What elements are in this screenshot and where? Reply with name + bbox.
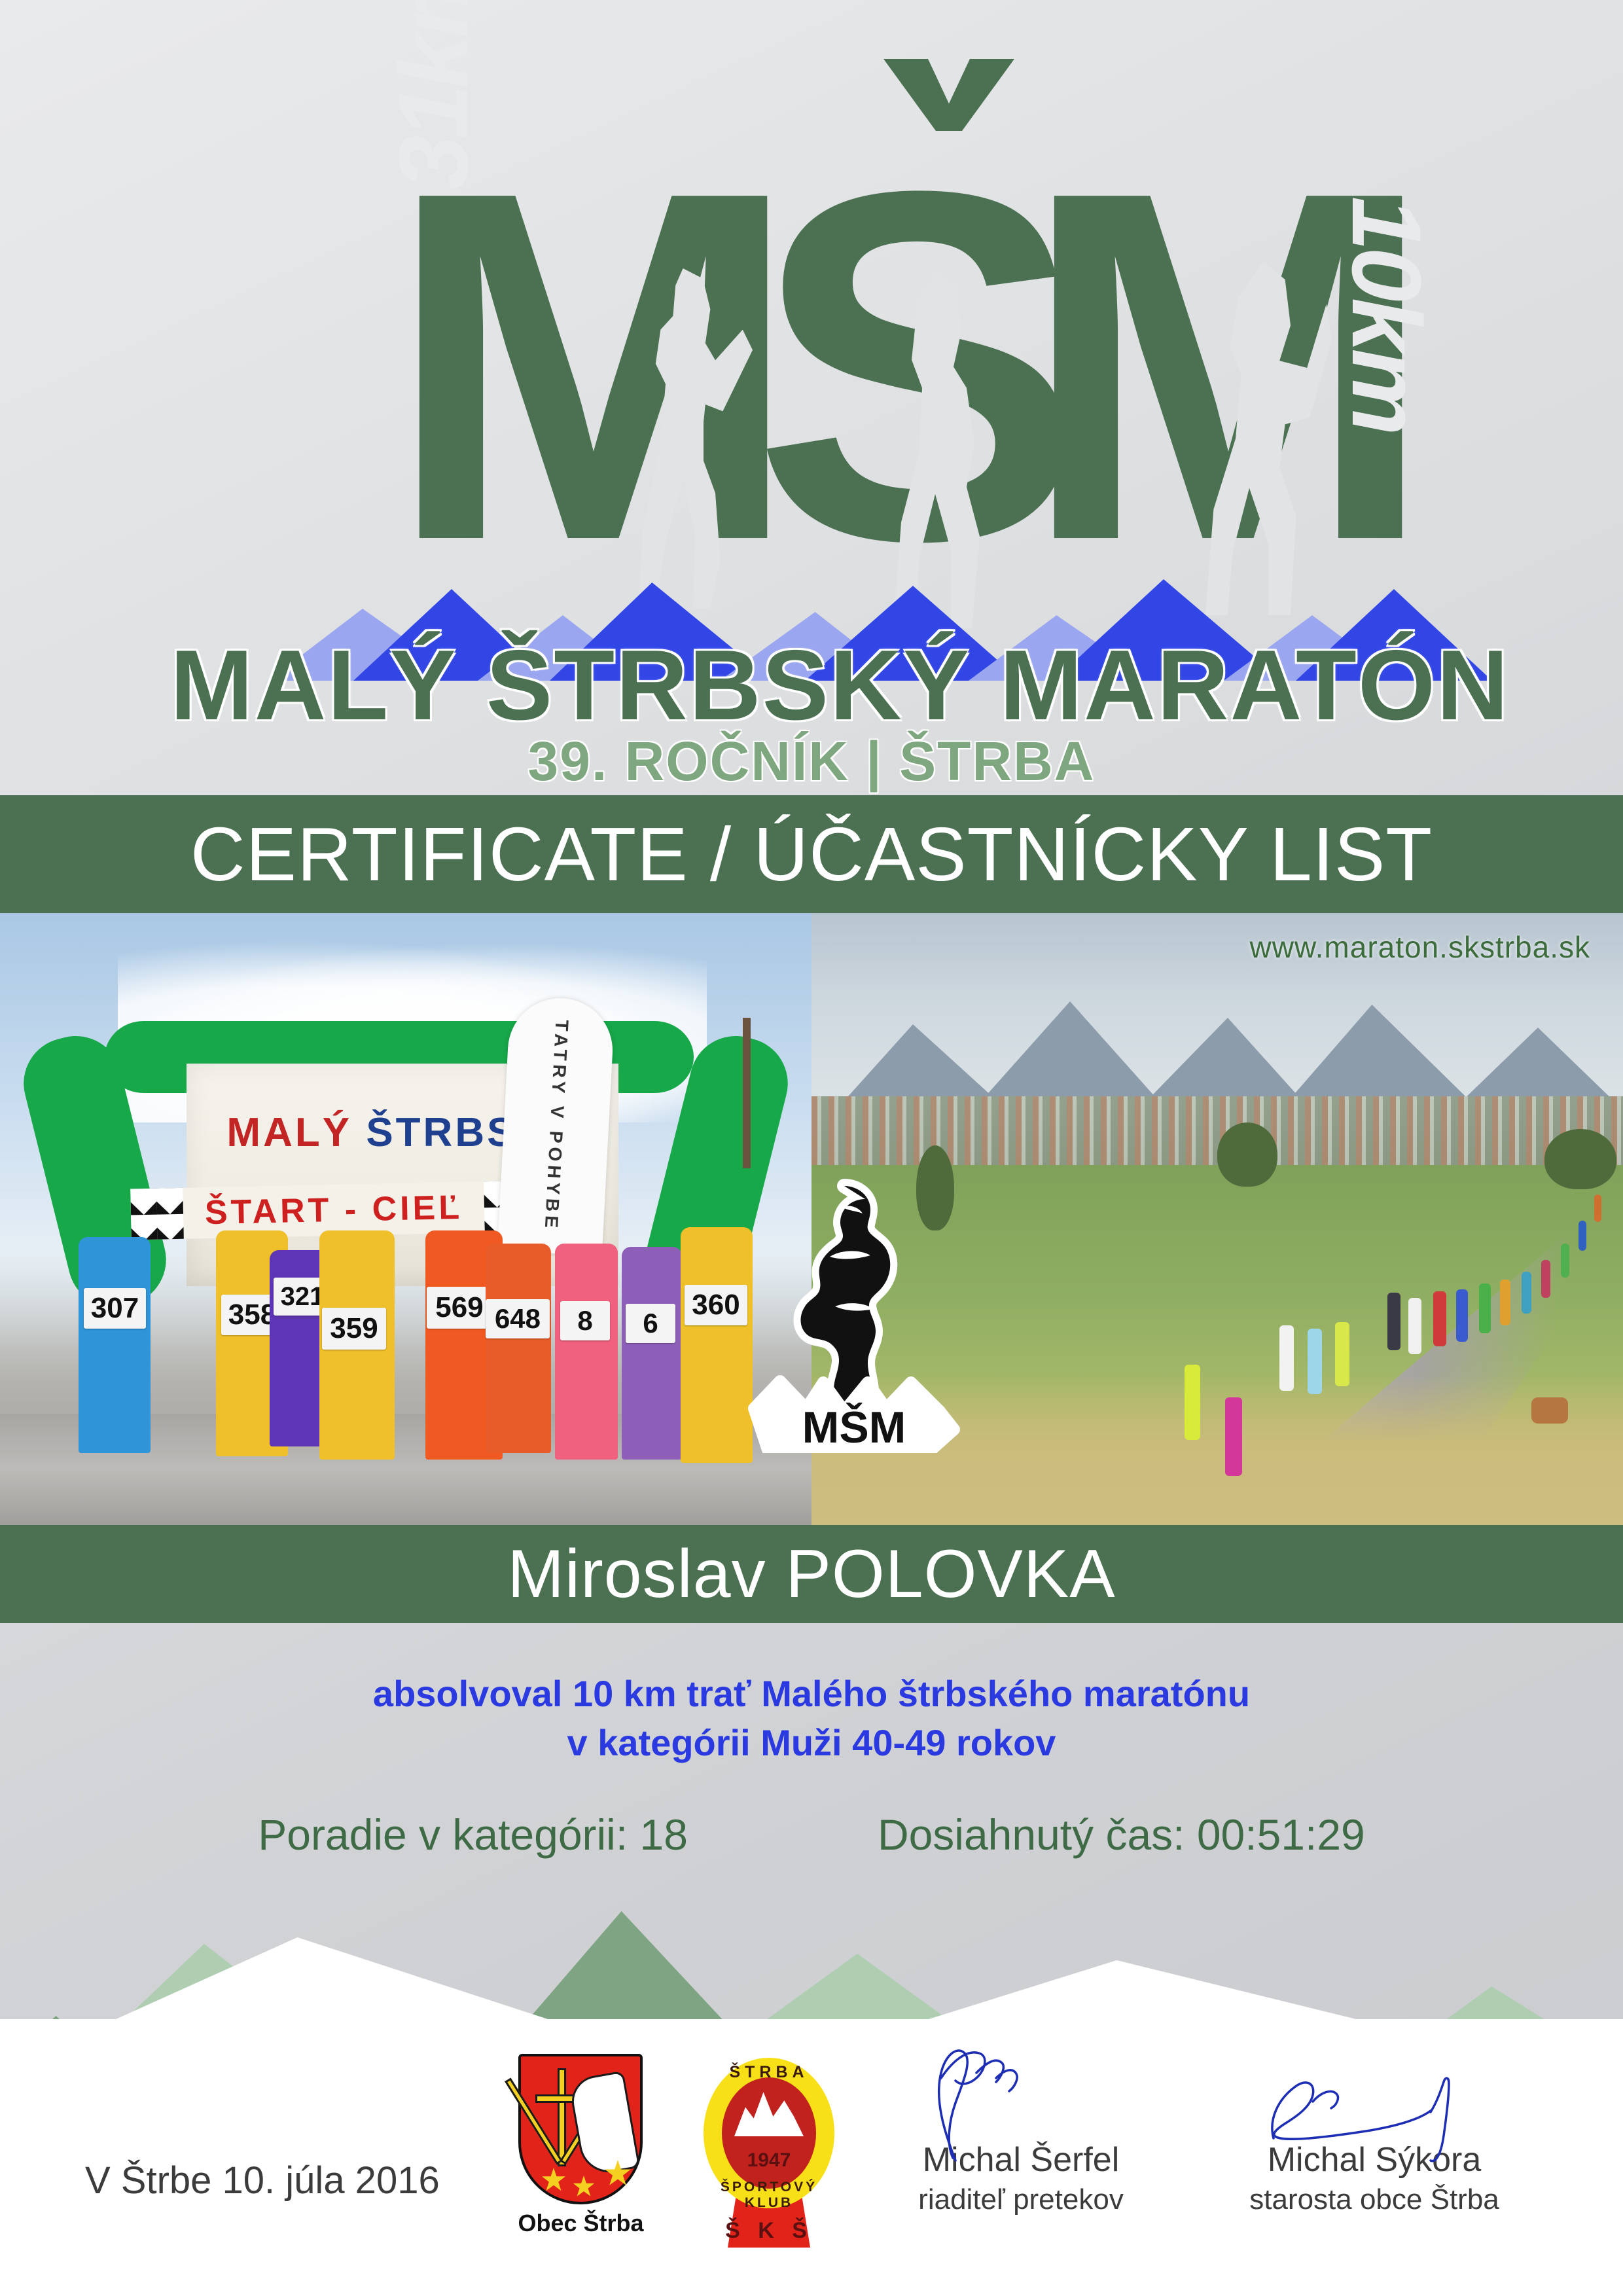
bib-number: 307: [84, 1288, 146, 1329]
sks-arc-text: ŠPORTOVÝ KLUB: [700, 2179, 838, 2211]
finish-time: Dosiahnutý čas: 00:51:29: [878, 1810, 1365, 1859]
bib-number: 648: [486, 1299, 550, 1338]
road-runner: [1387, 1293, 1400, 1350]
road-runner: [1541, 1260, 1550, 1298]
obec-strba-caption: Obec Štrba: [510, 2210, 651, 2237]
decal-label: MŠM: [802, 1402, 906, 1452]
sponsor-sail-flag: TATRY V POHYBE: [497, 996, 615, 1256]
road-runner: [1308, 1329, 1322, 1394]
crest-shield: [518, 2054, 643, 2204]
event-website: www.maraton.skstrba.sk: [1250, 929, 1590, 965]
sks-year: 1947: [700, 2149, 838, 2172]
participant-name: Miroslav POLOVKA: [507, 1535, 1115, 1613]
spear-left-icon: [505, 2077, 563, 2164]
cow-icon: [1531, 1397, 1568, 1424]
road-runner: [1479, 1283, 1491, 1333]
signature-block-mayor: Michal Sýkora starosta obce Štrba: [1211, 2140, 1538, 2216]
sks-bottom-text: Š K Š: [700, 2218, 838, 2244]
header-logo-zone: M S M 31km 10km MALÝ ŠTR: [0, 0, 1623, 795]
road-runner: [1225, 1397, 1242, 1476]
obec-strba-emblem: Obec Štrba: [510, 2054, 651, 2244]
msm-letterforms: M S M: [170, 118, 1453, 576]
signature-ink-director: [857, 2039, 1185, 2163]
runner-figure: [622, 1247, 682, 1460]
road-runner: [1279, 1325, 1294, 1391]
arm-icon: [568, 2071, 641, 2178]
road-runner: [1335, 1322, 1349, 1386]
tree-icon: [1544, 1129, 1616, 1189]
sks-emblem: ŠTRBA 1947 ŠPORTOVÝ KLUB Š K Š: [700, 2051, 838, 2248]
description-line-1: absolvoval 10 km trať Malého štrbského m…: [0, 1672, 1623, 1715]
distance-label-left: 31km: [377, 0, 490, 190]
utility-pole: [743, 1018, 751, 1168]
sks-top-text: ŠTRBA: [700, 2063, 838, 2082]
msm-runner-decal: MŠM: [746, 1178, 962, 1453]
place-and-date: V Štrbe 10. júla 2016: [85, 2159, 440, 2202]
signature-role-mayor: starosta obce Štrba: [1211, 2183, 1538, 2216]
photo-start-line: MALÝ MALÝ ŠTRBSKÝŠTRBSKÝ MARATÓN ŠTART -…: [0, 913, 811, 1525]
result-row: Poradie v kategórii: 18 Dosiahnutý čas: …: [0, 1810, 1623, 1859]
certificate-heading: CERTIFICATE / ÚČASTNÍCKY LIST: [190, 810, 1433, 898]
star-icon: [541, 2168, 567, 2194]
event-title: MALÝ ŠTRBSKÝ MARATÓN: [170, 628, 1453, 743]
bib-number: 569: [427, 1287, 492, 1329]
event-subtitle: 39. ROČNÍK | ŠTRBA: [170, 730, 1453, 793]
description-line-2: v kategórii Muži 40-49 rokov: [0, 1721, 1623, 1764]
runner-figure: [79, 1237, 151, 1453]
road-runner: [1433, 1291, 1446, 1346]
signature-block-director: Michal Šerfel riaditeľ pretekov: [857, 2140, 1185, 2216]
road-runner: [1456, 1289, 1468, 1342]
certificate-body: absolvoval 10 km trať Malého štrbského m…: [0, 1623, 1623, 1911]
road-runner: [1500, 1280, 1510, 1325]
certificate-heading-bar: CERTIFICATE / ÚČASTNÍCKY LIST: [0, 795, 1623, 913]
category-rank: Poradie v kategórii: 18: [258, 1810, 688, 1859]
certificate-page: M S M 31km 10km MALÝ ŠTR: [0, 0, 1623, 2296]
road-runner: [1522, 1272, 1531, 1314]
start-finish-text: ŠTART - CIEĽ: [204, 1188, 463, 1232]
signature-ink-mayor: [1211, 2039, 1538, 2163]
road-runner: [1185, 1365, 1200, 1440]
tree-icon: [1217, 1122, 1277, 1187]
runner-figure: [681, 1227, 753, 1463]
footer: V Štrbe 10. júla 2016 Obec Štrba ŠTRBA 1…: [0, 2042, 1623, 2296]
bib-number: 8: [560, 1301, 610, 1340]
bib-number: 360: [685, 1285, 747, 1325]
road-runner: [1578, 1221, 1586, 1251]
star-icon: [572, 2176, 596, 2199]
checker-left-icon: [130, 1188, 184, 1240]
runner-figure: [555, 1244, 618, 1460]
runner-figure: [486, 1244, 551, 1453]
sail-flag-text: TATRY V POHYBE: [541, 1019, 573, 1232]
msm-logo: M S M 31km 10km MALÝ ŠTR: [170, 20, 1453, 792]
signature-role-director: riaditeľ pretekov: [857, 2183, 1185, 2216]
participant-name-bar: Miroslav POLOVKA: [0, 1525, 1623, 1623]
road-runner: [1594, 1194, 1601, 1222]
distance-label-right: 10km: [1330, 196, 1443, 432]
bib-number: 359: [322, 1308, 386, 1350]
bib-number: 6: [626, 1304, 675, 1343]
road-runner: [1408, 1298, 1421, 1354]
road-runner: [1561, 1244, 1569, 1278]
